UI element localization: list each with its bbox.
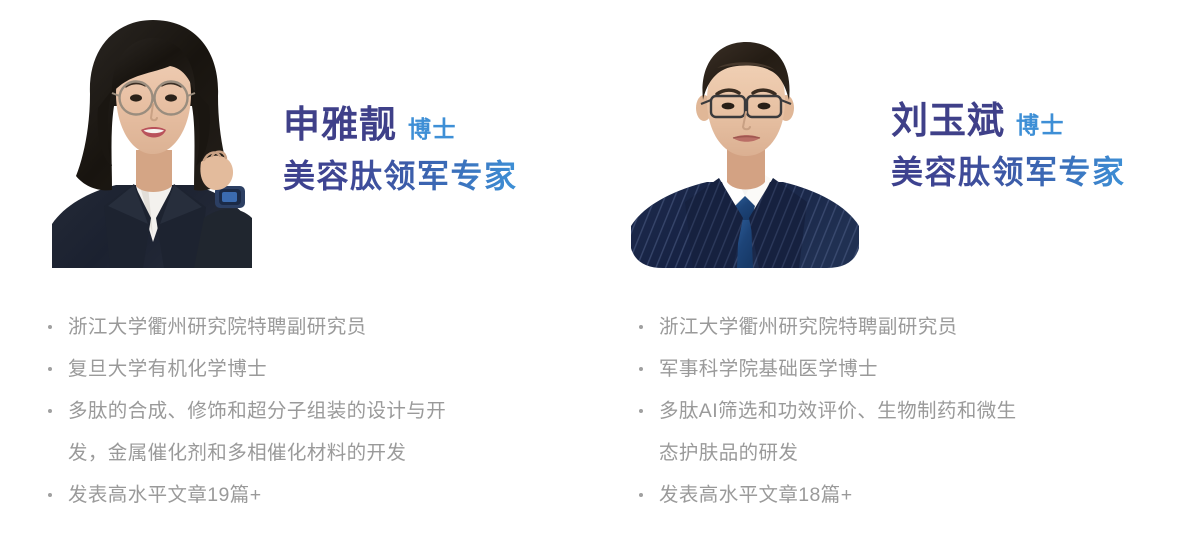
list-item-label: 军事科学院基础医学博士 bbox=[659, 348, 1158, 390]
expert-profiles-page: 申雅靓 博士 美容肽领军专家 浙江大学衢州研究院特聘副研究员 复旦大学有机化学博… bbox=[0, 0, 1187, 547]
list-item-label-continued: 发，金属催化剂和多相催化材料的开发 bbox=[68, 442, 406, 464]
list-item-label-continued: 态护肤品的研发 bbox=[659, 442, 798, 464]
list-item: 多肽AI筛选和功效评价、生物制药和微生 态护肤品的研发 bbox=[638, 390, 1158, 474]
portrait-photo-2 bbox=[629, 20, 861, 268]
bullet-dot-icon bbox=[48, 367, 52, 371]
person-degree: 博士 bbox=[408, 117, 457, 142]
list-item: 浙江大学衢州研究院特聘副研究员 bbox=[47, 306, 577, 348]
credentials-list-1: 浙江大学衢州研究院特聘副研究员 复旦大学有机化学博士 多肽的合成、修饰和超分子组… bbox=[47, 306, 577, 516]
person-role: 美容肽领军专家 bbox=[283, 158, 583, 196]
bullet-dot-icon bbox=[639, 493, 643, 497]
bullet-dot-icon bbox=[48, 325, 52, 329]
list-item-label: 多肽的合成、修饰和超分子组装的设计与开 bbox=[68, 390, 577, 432]
bullet-dot-icon bbox=[639, 367, 643, 371]
bullet-dot-icon bbox=[639, 409, 643, 413]
bullet-dot-icon bbox=[48, 493, 52, 497]
profile-header-2: 刘玉斌 博士 美容肽领军专家 bbox=[593, 0, 1186, 280]
list-item-label: 多肽AI筛选和功效评价、生物制药和微生 bbox=[659, 390, 1158, 432]
profile-header-1: 申雅靓 博士 美容肽领军专家 bbox=[0, 0, 593, 280]
name-row-1: 申雅靓 博士 bbox=[283, 104, 583, 145]
list-item: 发表高水平文章19篇+ bbox=[47, 474, 577, 516]
person-name: 刘玉斌 bbox=[891, 100, 1005, 141]
bullet-dot-icon bbox=[48, 409, 52, 413]
list-item-label: 发表高水平文章18篇+ bbox=[659, 474, 1158, 516]
list-item-label: 浙江大学衢州研究院特聘副研究员 bbox=[68, 306, 577, 348]
person-name: 申雅靓 bbox=[283, 104, 397, 145]
list-item: 发表高水平文章18篇+ bbox=[638, 474, 1158, 516]
bullet-dot-icon bbox=[639, 325, 643, 329]
list-item-label: 复旦大学有机化学博士 bbox=[68, 348, 577, 390]
list-item: 多肽的合成、修饰和超分子组装的设计与开 发，金属催化剂和多相催化材料的开发 bbox=[47, 390, 577, 474]
credentials-list-2: 浙江大学衢州研究院特聘副研究员 军事科学院基础医学博士 多肽AI筛选和功效评价、… bbox=[638, 306, 1158, 516]
name-row-2: 刘玉斌 博士 bbox=[891, 100, 1187, 141]
profile-card-1: 申雅靓 博士 美容肽领军专家 浙江大学衢州研究院特聘副研究员 复旦大学有机化学博… bbox=[0, 0, 593, 547]
list-item: 复旦大学有机化学博士 bbox=[47, 348, 577, 390]
list-item-label: 发表高水平文章19篇+ bbox=[68, 474, 577, 516]
person-degree: 博士 bbox=[1016, 113, 1065, 138]
list-item: 军事科学院基础医学博士 bbox=[638, 348, 1158, 390]
name-block-2: 刘玉斌 博士 美容肽领军专家 bbox=[891, 100, 1187, 192]
person-role: 美容肽领军专家 bbox=[891, 154, 1187, 192]
list-item-label: 浙江大学衢州研究院特聘副研究员 bbox=[659, 306, 1158, 348]
list-item: 浙江大学衢州研究院特聘副研究员 bbox=[638, 306, 1158, 348]
name-block-1: 申雅靓 博士 美容肽领军专家 bbox=[283, 104, 583, 196]
portrait-photo-1 bbox=[44, 10, 262, 268]
profile-card-2: 刘玉斌 博士 美容肽领军专家 浙江大学衢州研究院特聘副研究员 军事科学院基础医学… bbox=[593, 0, 1186, 547]
